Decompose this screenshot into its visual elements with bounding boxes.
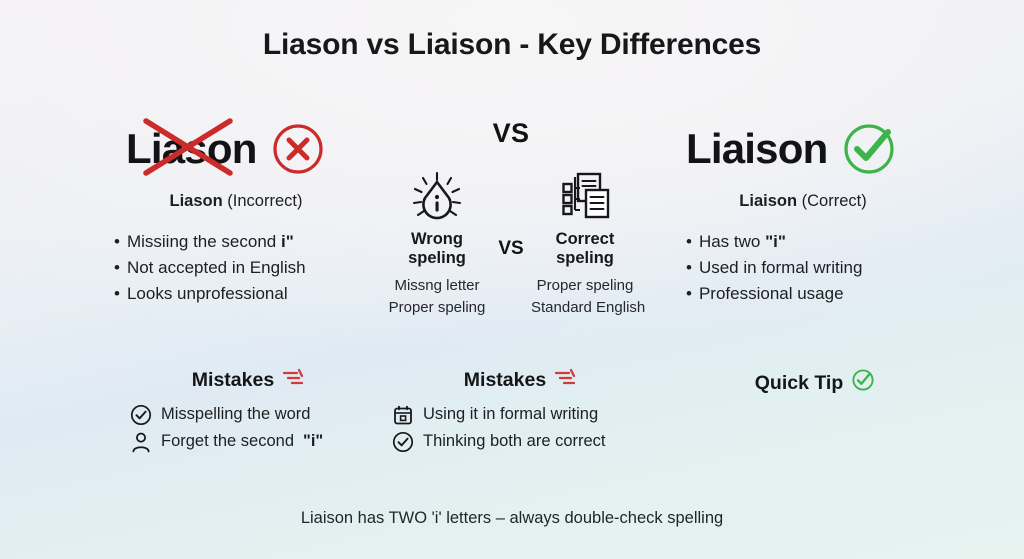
- correct-sub-label: Liaison (Correct): [660, 192, 946, 211]
- wrong-title-line1: Wrong: [383, 230, 491, 249]
- mistake-text: Using it in formal writing: [423, 403, 598, 426]
- lightbulb-info-icon: [383, 170, 491, 224]
- vs-divider: VS: [491, 170, 531, 260]
- mistakes-center-list: Using it in formal writing Thinking both…: [392, 401, 658, 456]
- bullet-text: Looks unprofessional: [127, 284, 288, 303]
- bullet-emphasis: i": [281, 232, 294, 251]
- wrong-spelling-lines: Missng letter Proper speling: [383, 275, 491, 318]
- comparison-row: Wrong speling Missng letter Proper speli…: [375, 170, 647, 318]
- correct-column: Liaison Liaison (Correct) Has two "i" Us…: [660, 118, 946, 306]
- comparison-column: VS: [375, 118, 647, 318]
- mistakes-left-list: Misspelling the word Forget the second "…: [130, 401, 378, 456]
- wrong-spelling-side: Wrong speling Missng letter Proper speli…: [383, 170, 491, 318]
- red-motion-lines-icon: [554, 368, 576, 392]
- correct-line: Proper speling: [531, 275, 639, 296]
- mistake-text: Misspelling the word: [161, 403, 310, 426]
- check-circle-icon: [130, 404, 152, 426]
- mistakes-left-heading-text: Mistakes: [192, 369, 274, 392]
- bullet-text: Used in formal writing: [699, 258, 862, 277]
- wrong-spelling-title: Wrong speling: [383, 230, 491, 268]
- list-item: Looks unprofessional: [114, 281, 376, 307]
- correct-spelling-lines: Proper speling Standard English: [531, 275, 639, 318]
- correct-sub-label-word: Liaison: [739, 192, 797, 210]
- circle-x-icon: [271, 122, 325, 176]
- circle-check-icon: [841, 120, 899, 178]
- correct-spelling-side: Correct speling Proper speling Standard …: [531, 170, 639, 318]
- bullet-text: Professional usage: [699, 284, 844, 303]
- list-item: Thinking both are correct: [392, 428, 658, 455]
- list-item: Professional usage: [686, 281, 946, 307]
- incorrect-bullets: Missiing the second i" Not accepted in E…: [114, 229, 376, 306]
- list-item: Missiing the second i": [114, 229, 376, 255]
- list-item: Misspelling the word: [130, 401, 378, 428]
- documents-checklist-icon: [531, 170, 639, 224]
- incorrect-word: Liason: [126, 128, 257, 170]
- incorrect-sub-label-note: (Incorrect): [223, 192, 303, 210]
- mistakes-center-heading-text: Mistakes: [464, 369, 546, 392]
- mistake-text: Forget the second: [161, 430, 294, 453]
- list-item: Not accepted in English: [114, 255, 376, 281]
- green-check-circle-icon: [851, 368, 875, 398]
- mistakes-left-heading: Mistakes: [118, 368, 378, 392]
- incorrect-sub-label: Liason (Incorrect): [96, 192, 376, 211]
- person-icon: [130, 431, 152, 453]
- quick-tip-heading: Quick Tip: [690, 368, 940, 398]
- footer-note: Liaison has TWO 'i' letters – always dou…: [0, 509, 1024, 528]
- incorrect-sub-label-word: Liason: [170, 192, 223, 210]
- quick-tip-heading-text: Quick Tip: [755, 372, 844, 395]
- bullet-emphasis: "i": [765, 232, 786, 251]
- correct-title-line1: Correct: [531, 230, 639, 249]
- quick-tip-block: Quick Tip: [690, 368, 940, 398]
- list-item: Used in formal writing: [686, 255, 946, 281]
- correct-word-row: Liaison: [660, 118, 946, 180]
- correct-bullets: Has two "i" Used in formal writing Profe…: [686, 229, 946, 306]
- correct-word: Liaison: [686, 128, 827, 170]
- list-item: Forget the second "i": [130, 428, 378, 455]
- incorrect-word-row: Liason: [96, 118, 376, 180]
- calendar-icon: [392, 404, 414, 426]
- vs-heading: VS: [375, 118, 647, 156]
- mistake-emphasis: "i": [303, 430, 323, 453]
- wrong-line: Missng letter: [383, 275, 491, 296]
- mistakes-center-heading: Mistakes: [382, 368, 658, 392]
- mistakes-center-block: Mistakes: [382, 368, 658, 456]
- incorrect-column: Liason Liason (Incorrect) Missiing the s…: [96, 118, 376, 306]
- correct-line: Standard English: [531, 297, 639, 318]
- bullet-text: Has two: [699, 232, 765, 251]
- correct-title-line2: speling: [531, 249, 639, 268]
- mistakes-left-block: Mistakes: [118, 368, 378, 456]
- correct-spelling-title: Correct speling: [531, 230, 639, 268]
- infographic-canvas: Liason vs Liaison - Key Differences Lias…: [0, 0, 1024, 559]
- mistake-text: Thinking both are correct: [423, 430, 606, 453]
- bullet-text: Missiing the second: [127, 232, 281, 251]
- page-title: Liason vs Liaison - Key Differences: [0, 28, 1024, 62]
- check-circle-icon: [392, 431, 414, 453]
- wrong-line: Proper speling: [383, 297, 491, 318]
- list-item: Using it in formal writing: [392, 401, 658, 428]
- bullet-text: Not accepted in English: [127, 258, 306, 277]
- red-motion-lines-icon: [282, 368, 304, 392]
- correct-sub-label-note: (Correct): [797, 192, 867, 210]
- list-item: Has two "i": [686, 229, 946, 255]
- wrong-title-line2: speling: [383, 249, 491, 268]
